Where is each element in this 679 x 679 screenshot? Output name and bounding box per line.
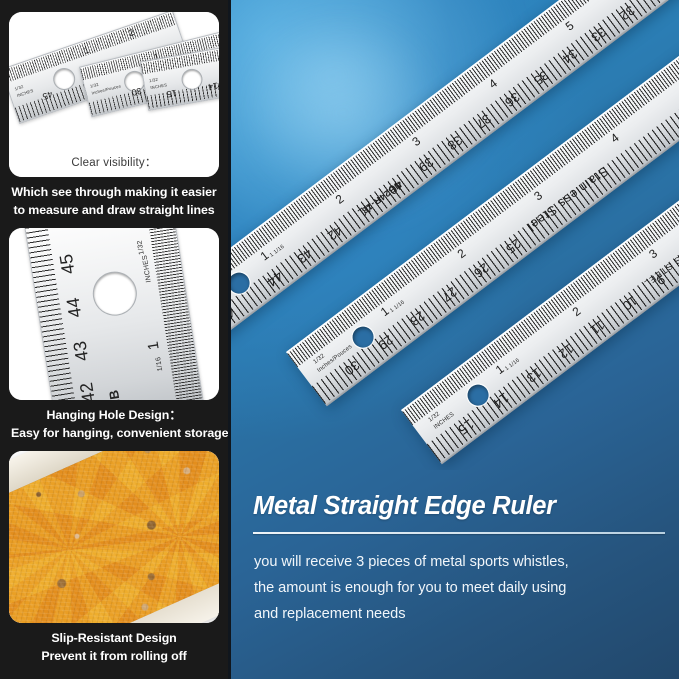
product-description: you will receive 3 pieces of metal sport… [254,550,661,628]
feature-column: 1/32 INCHES 44 45 1 2 1/32 Inches/Pouces [0,0,228,679]
product-photo: 1/32 INCHES 45 44 43 42 41 40 39 38 37 3… [231,0,679,470]
product-infographic: 1/32 INCHES 44 45 1 2 1/32 Inches/Pouces [0,0,679,679]
page-title: Metal Straight Edge Ruler [253,492,661,521]
ruler-hole-closeup-illustration: 45 44 43 42 1/32 INCHES 1 1/16 NB [9,228,219,400]
feature-image-hanging-hole: 45 44 43 42 1/32 INCHES 1 1/16 NB [9,228,219,400]
rulers-fanned-illustration: 1/32 INCHES 44 45 1 2 1/32 Inches/Pouces [9,12,219,177]
description-line: and replacement needs [254,602,661,628]
feature-image-clear-visibility: 1/32 INCHES 44 45 1 2 1/32 Inches/Pouces [9,12,219,177]
feature-caption-hanging-hole: Hanging Hole Design： Easy for hanging, c… [9,400,219,442]
fraction-label-top: 1 1/16 [269,244,286,259]
cork-backing-illustration [9,451,219,623]
description-line: the amount is enough for you to meet dai… [254,576,661,602]
feature-block-clear-visibility: 1/32 INCHES 44 45 1 2 1/32 Inches/Pouces [9,12,219,219]
main-panel: 1/32 INCHES 45 44 43 42 41 40 39 38 37 3… [231,0,679,679]
fraction-label-middle: 1 1/16 [389,299,406,314]
feature-block-slip-resistant: Slip-Resistant Design Prevent it from ro… [9,451,219,665]
description-line: you will receive 3 pieces of metal sport… [254,550,661,576]
caption-line: Prevent it from rolling off [11,648,217,666]
feature-caption-clear-visibility: Which see through making it easier to me… [9,177,219,219]
caption-line: Slip-Resistant Design [11,630,217,648]
caption-line: Easy for hanging, convenient storage [11,425,217,443]
title-underline-rule [253,532,665,534]
caption-line: to measure and draw straight lines [11,202,217,220]
caption-line: Which see through making it easier [11,184,217,202]
feature-caption-slip-resistant: Slip-Resistant Design Prevent it from ro… [9,623,219,665]
caption-line: Hanging Hole Design： [11,407,217,425]
feature-image-slip-resistant [9,451,219,623]
product-text-block: Metal Straight Edge Ruler you will recei… [231,470,679,679]
fraction-label-bottom: 1 1/16 [504,357,521,372]
card-caption-clear-visibility: Clear visibility： [9,154,219,170]
ruler-illustration-closeup: 45 44 43 42 1/32 INCHES 1 1/16 NB [24,228,203,400]
feature-block-hanging-hole: 45 44 43 42 1/32 INCHES 1 1/16 NB Hangin… [9,228,219,442]
